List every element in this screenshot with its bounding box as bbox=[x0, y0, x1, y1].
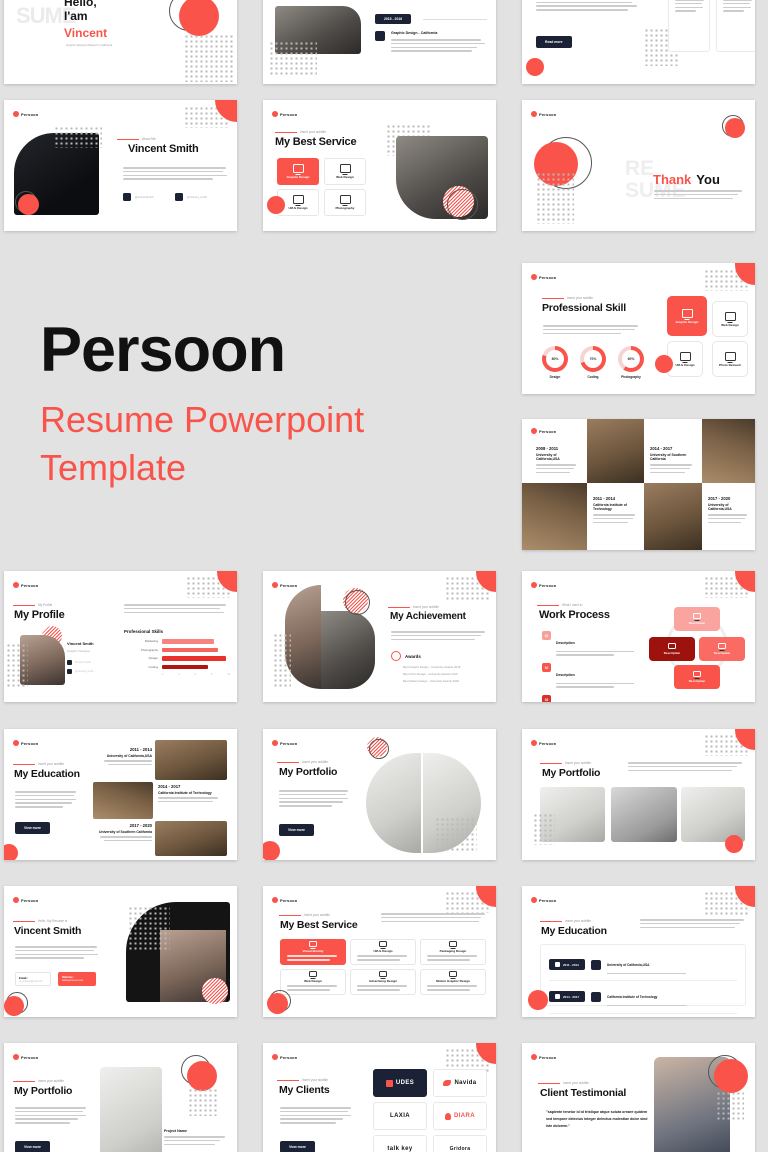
decor-dots bbox=[273, 633, 291, 687]
skill-body bbox=[543, 325, 640, 336]
profile-body bbox=[124, 604, 228, 615]
page-title: My Portfolio bbox=[542, 768, 600, 779]
slide-my-profile[interactable]: Persoon My Profile My Profile Vincent Sm… bbox=[4, 571, 237, 702]
profile-name: Vincent Smith bbox=[67, 641, 94, 646]
decor-circle-red bbox=[714, 1059, 748, 1093]
slide-thank-you[interactable]: Persoon RE SUME Thank You bbox=[522, 100, 755, 231]
decor-circle-red bbox=[187, 1061, 217, 1091]
eyebrow-subtitle: Insert your subtitle bbox=[542, 296, 593, 300]
hero-section: Persoon Resume Powerpoint Template bbox=[0, 245, 520, 563]
contact-body bbox=[15, 946, 99, 961]
portfolio-body bbox=[279, 790, 349, 809]
decor-dots bbox=[533, 813, 555, 845]
monitor-icon bbox=[682, 309, 693, 318]
brand-logo: Persoon bbox=[531, 740, 556, 746]
email-field[interactable]: Email : hi_persoon@mail.com bbox=[15, 972, 51, 986]
decor-dots bbox=[188, 1088, 218, 1116]
decor-dots bbox=[269, 41, 317, 75]
client-logo[interactable]: DIARA bbox=[433, 1102, 487, 1130]
brand-logo: Persoon bbox=[531, 428, 556, 434]
monitor-icon bbox=[340, 164, 351, 173]
eyebrow-subtitle: Insert your subtitle bbox=[277, 760, 328, 764]
brand-logo: Persoon bbox=[531, 897, 556, 903]
page-title: My Education bbox=[14, 769, 80, 780]
code-icon bbox=[725, 312, 736, 321]
page-title: Work Process bbox=[539, 610, 610, 621]
social-facebook[interactable]: @vincentsmith bbox=[123, 193, 153, 201]
client-logo[interactable]: UDES bbox=[373, 1069, 427, 1097]
skill-card[interactable]: Web Design bbox=[712, 301, 748, 337]
decor-hatch-circle bbox=[202, 978, 228, 1004]
twitter-icon bbox=[67, 669, 72, 674]
monitor-icon bbox=[340, 195, 351, 204]
clients-body bbox=[280, 1107, 352, 1126]
decor-circle-red bbox=[18, 194, 39, 215]
eyebrow-subtitle: Insert your subtitle bbox=[275, 130, 326, 134]
cycle-node[interactable]: Description bbox=[674, 665, 720, 689]
decor-ring bbox=[345, 590, 370, 615]
slide-team[interactable]: Read more Dickson Company Founder Alexia… bbox=[522, 0, 755, 84]
service-card[interactable]: Packaging Design bbox=[420, 939, 486, 965]
facebook-icon bbox=[123, 193, 131, 201]
decor-circle-red bbox=[725, 835, 743, 853]
decor-dots bbox=[435, 817, 477, 851]
eyebrow-subtitle: Insert your subtitle bbox=[277, 1078, 328, 1082]
eyebrow-subtitle: Insert your subtitle bbox=[13, 1079, 64, 1083]
eyebrow-subtitle: Insert your subtitle bbox=[279, 913, 330, 917]
education-row[interactable]: 2014 - 2017 California Institute of Tech… bbox=[549, 981, 737, 1013]
portfolio-body bbox=[628, 762, 744, 773]
monitor-icon bbox=[449, 941, 457, 947]
diara-mark-icon bbox=[445, 1113, 451, 1120]
page-title: Client Testimonial bbox=[540, 1088, 626, 1099]
greeting-line1: Hello, bbox=[64, 0, 97, 9]
thankyou-thank: Thank bbox=[653, 172, 691, 187]
skill-donut: 70% Coding bbox=[580, 346, 606, 379]
process-steps: 01Description 02Description 03Descriptio… bbox=[542, 631, 638, 702]
decor-ring bbox=[447, 189, 478, 220]
eyebrow-hello: Hello, My Resume is bbox=[13, 919, 67, 923]
view-more-button[interactable]: View more bbox=[15, 1141, 50, 1152]
skill-card[interactable]: Photo Retouch bbox=[712, 341, 748, 377]
service-card[interactable]: Motion Graphic Design bbox=[420, 969, 486, 995]
brand-logo: Persoon bbox=[531, 582, 556, 588]
skill-card[interactable]: Graphic Design bbox=[667, 296, 707, 336]
read-more-button[interactable]: Read more bbox=[536, 36, 572, 48]
service-body bbox=[381, 913, 487, 924]
skill-card[interactable]: UI/Ux Design bbox=[667, 341, 703, 377]
calendar-icon bbox=[555, 962, 560, 967]
page-title: My Portfolio bbox=[14, 1086, 72, 1097]
page-title: My Education bbox=[541, 926, 607, 937]
social-facebook[interactable]: Vincent Smith bbox=[67, 660, 91, 665]
decor-dots bbox=[184, 34, 234, 82]
intro-name: Vincent bbox=[64, 26, 107, 40]
skill-donut: 60% Photography bbox=[618, 346, 644, 379]
experience-desc bbox=[391, 39, 487, 54]
education-rows: 2011 - 2014 University of California,USA… bbox=[540, 944, 746, 1006]
slide-intro[interactable]: SUME Hello, I'am Vincent Graphic Designe… bbox=[4, 0, 237, 84]
hero-subtitle-2: Template bbox=[40, 445, 520, 491]
experience-role: Graphic Design - California bbox=[391, 31, 437, 35]
monitor-icon bbox=[379, 971, 387, 977]
facebook-icon bbox=[67, 660, 72, 665]
skills-bar-chart: Marketing Photography Design Coding 2468… bbox=[124, 639, 230, 676]
brand-logo: Persoon bbox=[272, 111, 297, 117]
skill-donut: 80% Design bbox=[542, 346, 568, 379]
page-title: My Best Service bbox=[280, 920, 358, 931]
monitor-icon bbox=[293, 195, 304, 204]
service-card[interactable]: Graphic Design bbox=[277, 158, 319, 185]
education-item: 2014 - 2017 California Institute of Tech… bbox=[158, 784, 220, 805]
brand-logo: Persoon bbox=[13, 582, 38, 588]
brand-logo: Persoon bbox=[13, 111, 38, 117]
education-item: 2014 - 2017 University of Southern Calif… bbox=[644, 441, 700, 480]
decor-dots bbox=[536, 172, 574, 224]
eyebrow-about: My Profile bbox=[13, 603, 52, 607]
education-item: 2011 - 2014 California Institute of Tech… bbox=[587, 491, 643, 530]
view-more-button[interactable]: View more bbox=[280, 1141, 315, 1152]
education-body bbox=[640, 919, 746, 930]
thankyou-you: You bbox=[696, 172, 720, 187]
education-body bbox=[15, 791, 77, 810]
education-item: 2017 - 2020 University of California,USA bbox=[702, 491, 755, 530]
social-twitter[interactable]: @vincent_smith bbox=[175, 193, 207, 201]
brand-logo: Persoon bbox=[531, 1054, 556, 1060]
decor-dots bbox=[6, 643, 28, 687]
brand-logo: Persoon bbox=[13, 1054, 38, 1060]
page-title: Vincent Smith bbox=[128, 144, 199, 155]
education-item: 2008 - 2011 University of California,USA bbox=[530, 441, 584, 480]
university-icon bbox=[591, 960, 601, 970]
slide-vincent-contact[interactable]: Persoon Hello, My Resume is Vincent Smit… bbox=[4, 886, 237, 1017]
client-logo[interactable]: talk key bbox=[373, 1135, 427, 1152]
brand-logo: Persoon bbox=[13, 897, 38, 903]
brand-logo: Persoon bbox=[531, 111, 556, 117]
achievement-body bbox=[391, 631, 487, 642]
monitor-icon bbox=[718, 643, 726, 649]
service-card[interactable]: UI/Ux Design bbox=[350, 939, 416, 965]
monitor-icon bbox=[309, 971, 317, 977]
monitor-icon bbox=[293, 164, 304, 173]
monitor-icon bbox=[449, 971, 457, 977]
camera-icon bbox=[680, 352, 691, 361]
intro-tagline: Graphic Designer Based In California bbox=[66, 43, 112, 47]
decor-ring bbox=[369, 739, 389, 759]
slide-gallery-page: SUME Hello, I'am Vincent Graphic Designe… bbox=[0, 0, 768, 1152]
page-title: My Portfolio bbox=[279, 767, 337, 778]
slide-experience[interactable]: 2015 - 2016 Graphic Design - California bbox=[263, 0, 496, 84]
slide-about-me[interactable]: Persoon About Me Vincent Smith @vincents… bbox=[4, 100, 237, 231]
decor-circle-red bbox=[528, 990, 548, 1010]
monitor-icon bbox=[379, 941, 387, 947]
hero-title: Persoon bbox=[40, 317, 520, 383]
education-row[interactable]: 2017 - 2020 University of Southern Calif… bbox=[549, 1014, 737, 1017]
slide-my-achievement[interactable]: Persoon Insert your subtitle My Achievem… bbox=[263, 571, 496, 702]
cycle-node[interactable]: Description bbox=[674, 607, 720, 631]
slide-best-service-4[interactable]: Persoon Insert your subtitle My Best Ser… bbox=[263, 100, 496, 231]
profile-role: Graphic Designer bbox=[67, 649, 90, 653]
slide-my-portfolio-c[interactable]: Persoon Insert your subtitle My Portfoli… bbox=[4, 1043, 237, 1152]
decor-circle-red bbox=[267, 993, 288, 1014]
thankyou-body bbox=[654, 190, 744, 201]
eyebrow-subtitle: Insert your subtitle bbox=[13, 762, 64, 766]
slide-best-service-6[interactable]: Persoon Insert your subtitle My Best Ser… bbox=[263, 886, 496, 1017]
twitter-icon bbox=[175, 193, 183, 201]
slide-my-portfolio-b[interactable]: Persoon Insert your subtitle My Portfoli… bbox=[522, 729, 755, 860]
cycle-node[interactable]: Description bbox=[699, 637, 745, 661]
team-card-1[interactable]: Dickson Company Founder bbox=[668, 0, 710, 52]
calendar-icon bbox=[555, 994, 560, 999]
monitor-icon bbox=[668, 643, 676, 649]
client-logo[interactable]: Gridora bbox=[433, 1135, 487, 1152]
decor-dots bbox=[54, 126, 102, 148]
education-row[interactable]: 2011 - 2014 University of California,USA bbox=[549, 949, 737, 981]
decor-circle-red bbox=[4, 844, 18, 860]
udes-mark-icon bbox=[386, 1080, 393, 1087]
decor-circle-red bbox=[655, 355, 673, 373]
decor-circle-red bbox=[4, 996, 24, 1016]
service-card[interactable]: Visual Identity bbox=[280, 939, 346, 965]
slide-professional-skill[interactable]: Persoon Insert your subtitle Professiona… bbox=[522, 263, 755, 394]
decor-circle-red bbox=[725, 118, 745, 138]
decor-circle-red bbox=[526, 58, 544, 76]
monitor-icon bbox=[693, 671, 701, 677]
team-body bbox=[536, 0, 640, 13]
portfolio-body bbox=[15, 1107, 87, 1126]
university-icon bbox=[591, 992, 601, 1002]
client-logo[interactable]: Navida bbox=[433, 1069, 487, 1097]
slide-my-clients[interactable]: Persoon Insert your subtitle My Clients … bbox=[263, 1043, 496, 1152]
decor-circle-red bbox=[267, 196, 285, 214]
eyebrow-work: What I want to bbox=[537, 603, 582, 607]
decor-circle-red bbox=[179, 0, 219, 36]
social-twitter[interactable]: @vincent_smith bbox=[67, 669, 94, 674]
brand-logo: Persoon bbox=[272, 582, 297, 588]
service-card[interactable]: Photography bbox=[324, 189, 366, 216]
monitor-icon bbox=[693, 613, 701, 619]
service-card[interactable]: Web Design bbox=[324, 158, 366, 185]
awards-heading: Awards bbox=[405, 654, 421, 659]
ghost-text-re: RE bbox=[625, 160, 654, 179]
slide-education-grid[interactable]: Persoon 2008 - 2011 University of Califo… bbox=[522, 419, 755, 550]
brand-logo: Persoon bbox=[272, 897, 297, 903]
service-card[interactable]: Advertising Design bbox=[350, 969, 416, 995]
page-title: My Profile bbox=[14, 610, 65, 621]
slide-my-education-list[interactable]: Persoon Insert your subtitle My Educatio… bbox=[522, 886, 755, 1017]
decor-dots bbox=[716, 1091, 744, 1121]
eyebrow-subtitle: Insert your subtitle bbox=[538, 1081, 589, 1085]
hero-subtitle-1: Resume Powerpoint bbox=[40, 397, 520, 443]
experience-year-pill: 2015 - 2016 bbox=[375, 14, 411, 24]
page-title: My Best Service bbox=[275, 137, 356, 148]
education-item: 2017 - 2020 University of Southern Calif… bbox=[98, 823, 152, 844]
website-button[interactable]: Website : www.persoon.com bbox=[58, 972, 96, 986]
view-more-button[interactable]: View more bbox=[15, 822, 50, 834]
page-title: My Achievement bbox=[390, 612, 466, 622]
awards-list: Best Graphic Design - University Awards … bbox=[403, 665, 460, 686]
slide-my-portfolio-a[interactable]: Persoon Insert your subtitle My Portfoli… bbox=[263, 729, 496, 860]
slide-work-process[interactable]: Persoon What I want to Work Process 01De… bbox=[522, 571, 755, 702]
greeting-line2: I'am bbox=[64, 10, 88, 23]
client-logo[interactable]: LAXIA bbox=[373, 1102, 427, 1130]
view-more-button[interactable]: View more bbox=[279, 824, 314, 836]
eyebrow-about: About Me bbox=[117, 137, 156, 141]
eyebrow-subtitle: Insert your subtitle bbox=[540, 761, 591, 765]
slide-my-education-timeline[interactable]: Persoon Insert your subtitle My Educatio… bbox=[4, 729, 237, 860]
page-title: Vincent Smith bbox=[14, 926, 81, 937]
testimonial-quote: "sapiente tenetur id id tristique atque … bbox=[546, 1109, 650, 1129]
brand-logo: Persoon bbox=[13, 740, 38, 746]
team-card-2[interactable]: Alexia Company Founder bbox=[716, 0, 755, 52]
page-title: My Clients bbox=[279, 1085, 330, 1096]
eyebrow-subtitle: Insert your subtitle bbox=[540, 919, 591, 923]
award-icon bbox=[391, 651, 401, 661]
about-body bbox=[123, 167, 228, 182]
cycle-node[interactable]: Description bbox=[649, 637, 695, 661]
page-title: Professional Skill bbox=[542, 303, 626, 314]
education-item: 2011 - 2014 University of California,USA bbox=[102, 747, 152, 768]
experience-icon bbox=[375, 31, 385, 41]
eyebrow-subtitle: Insert your subtitle bbox=[388, 605, 439, 609]
service-card[interactable]: Web Design bbox=[280, 969, 346, 995]
navida-mark-icon bbox=[443, 1080, 451, 1086]
project-name: Project Name bbox=[164, 1129, 187, 1133]
decor-dots bbox=[128, 906, 170, 952]
monitor-icon bbox=[309, 941, 317, 947]
brand-logo: Persoon bbox=[272, 740, 297, 746]
brand-logo: Persoon bbox=[531, 274, 556, 280]
skills-heading: Professional Skills bbox=[124, 629, 163, 634]
photo-icon bbox=[725, 352, 736, 361]
brand-logo: Persoon bbox=[272, 1054, 297, 1060]
decor-circle-red bbox=[263, 841, 280, 860]
slide-client-testimonial[interactable]: Persoon Insert your subtitle Client Test… bbox=[522, 1043, 755, 1152]
